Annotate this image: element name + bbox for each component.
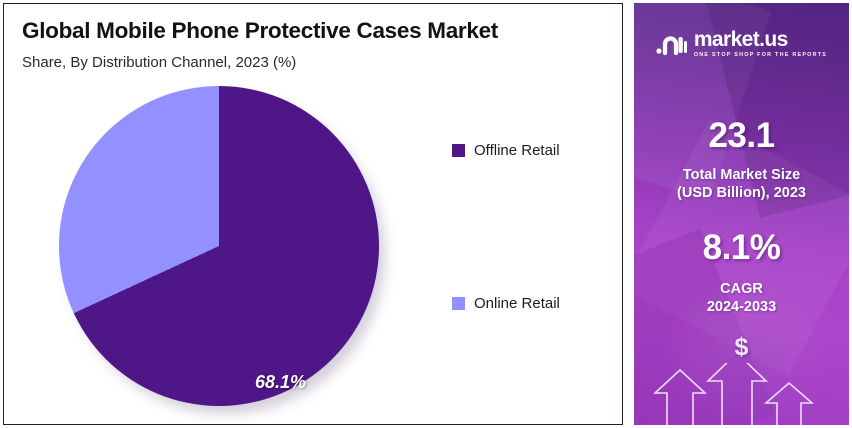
logo-tagline: ONE STOP SHOP FOR THE REPORTS xyxy=(694,52,827,58)
brand-logo[interactable]: market.us ONE STOP SHOP FOR THE REPORTS xyxy=(634,29,849,58)
logo-text-group: market.us ONE STOP SHOP FOR THE REPORTS xyxy=(694,29,827,58)
market-us-logo-icon xyxy=(656,31,687,56)
growth-arrows-icon xyxy=(634,363,849,425)
stat-value-cagr: 8.1% xyxy=(634,228,849,268)
stat-caption-cagr: CAGR 2024-2033 xyxy=(634,280,849,316)
stat-caption-line1: Total Market Size xyxy=(683,167,800,183)
infographic-screen: Global Mobile Phone Protective Cases Mar… xyxy=(0,0,852,428)
pie-slices[interactable] xyxy=(59,86,379,406)
stat-caption-line2: (USD Billion), 2023 xyxy=(677,185,806,201)
page-title: Global Mobile Phone Protective Cases Mar… xyxy=(22,18,498,44)
legend-swatch-icon xyxy=(452,144,465,157)
chart-subtitle: Share, By Distribution Channel, 2023 (%) xyxy=(22,54,296,71)
brand-panel: market.us ONE STOP SHOP FOR THE REPORTS … xyxy=(634,3,849,425)
legend-item-online-retail[interactable]: Online Retail xyxy=(452,295,560,312)
logo-wordmark: market.us xyxy=(694,29,788,50)
dollar-sign-icon: $ xyxy=(634,333,849,362)
stat-value-market-size: 23.1 xyxy=(634,116,849,156)
pie-chart: 68.1% xyxy=(59,86,389,416)
chart-panel: Global Mobile Phone Protective Cases Mar… xyxy=(3,3,623,425)
legend-swatch-icon xyxy=(452,297,465,310)
pie-data-label-offline: 68.1% xyxy=(255,372,306,393)
stat-caption-line2: 2024-2033 xyxy=(707,299,776,315)
stat-caption-line1: CAGR xyxy=(720,281,763,297)
legend-item-offline-retail[interactable]: Offline Retail xyxy=(452,142,560,159)
legend-label: Offline Retail xyxy=(474,142,560,159)
legend-label: Online Retail xyxy=(474,295,560,312)
stat-caption-market-size: Total Market Size (USD Billion), 2023 xyxy=(634,166,849,202)
